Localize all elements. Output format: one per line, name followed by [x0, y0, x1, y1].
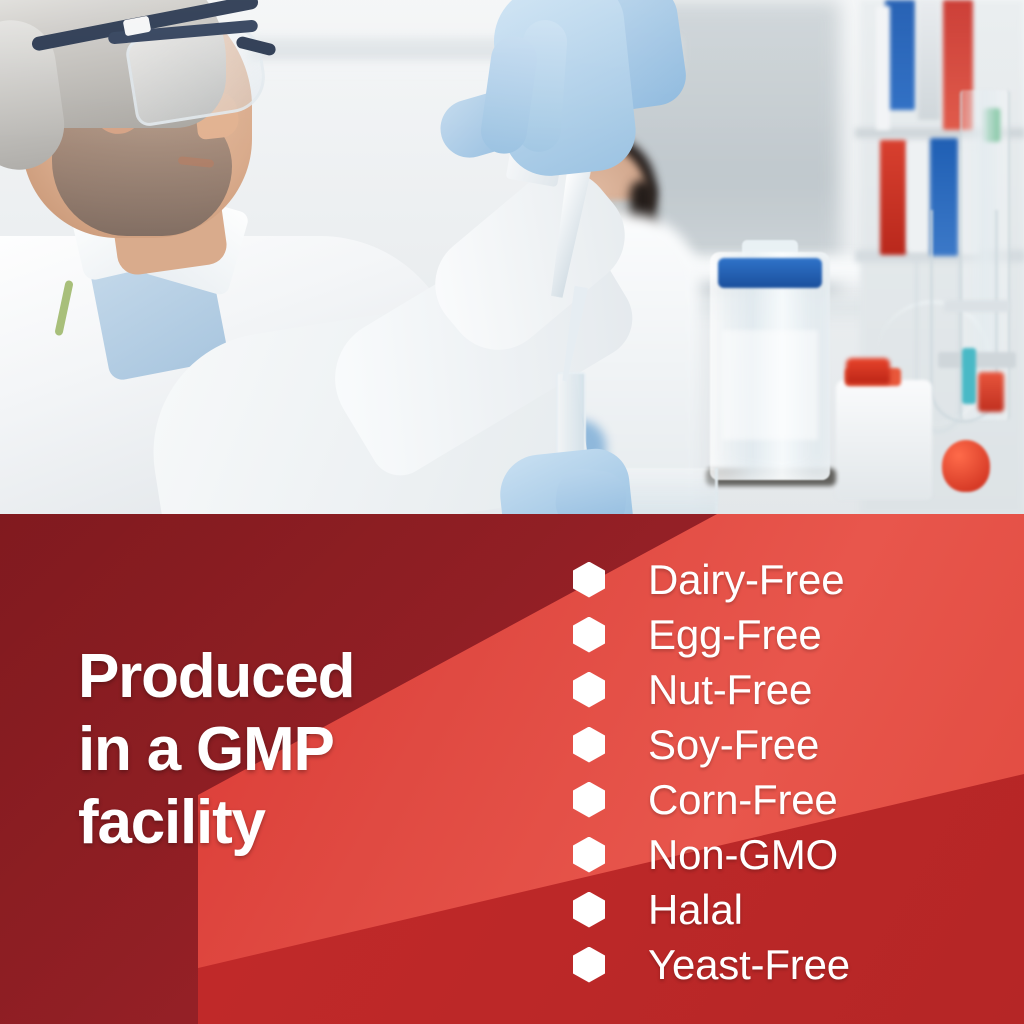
hexagon-bullet-icon	[573, 607, 605, 662]
list-item: Dairy-Free	[573, 552, 850, 607]
list-item: Nut-Free	[573, 662, 850, 717]
benefit-label: Corn-Free	[648, 778, 838, 822]
page-title: Produced in a GMP facility	[78, 640, 498, 859]
benefits-panel: Produced in a GMP facility Dairy-Free Eg…	[0, 514, 1024, 1024]
photo-overlay-sheen	[0, 0, 1024, 515]
headline-line-2: in a GMP	[78, 713, 498, 786]
headline-line-1: Produced	[78, 640, 498, 713]
benefits-list: Dairy-Free Egg-Free Nut-Free Soy-Free Co…	[573, 552, 850, 992]
hexagon-bullet-icon	[573, 882, 605, 937]
hexagon-bullet-icon	[573, 772, 605, 827]
headline-line-3: facility	[78, 786, 498, 859]
lab-photograph	[0, 0, 1024, 515]
benefit-label: Egg-Free	[648, 613, 821, 657]
benefit-label: Halal	[648, 888, 743, 932]
list-item: Halal	[573, 882, 850, 937]
hexagon-bullet-icon	[573, 662, 605, 717]
benefit-label: Nut-Free	[648, 668, 812, 712]
gmp-facility-promo-graphic: Produced in a GMP facility Dairy-Free Eg…	[0, 0, 1024, 1024]
list-item: Non-GMO	[573, 827, 850, 882]
list-item: Soy-Free	[573, 717, 850, 772]
benefit-label: Non-GMO	[648, 833, 838, 877]
list-item: Corn-Free	[573, 772, 850, 827]
hexagon-bullet-icon	[573, 552, 605, 607]
list-item: Egg-Free	[573, 607, 850, 662]
hexagon-bullet-icon	[573, 827, 605, 882]
benefit-label: Soy-Free	[648, 723, 819, 767]
benefit-label: Yeast-Free	[648, 943, 850, 987]
list-item: Yeast-Free	[573, 937, 850, 992]
benefit-label: Dairy-Free	[648, 558, 844, 602]
hexagon-bullet-icon	[573, 717, 605, 772]
hexagon-bullet-icon	[573, 937, 605, 992]
